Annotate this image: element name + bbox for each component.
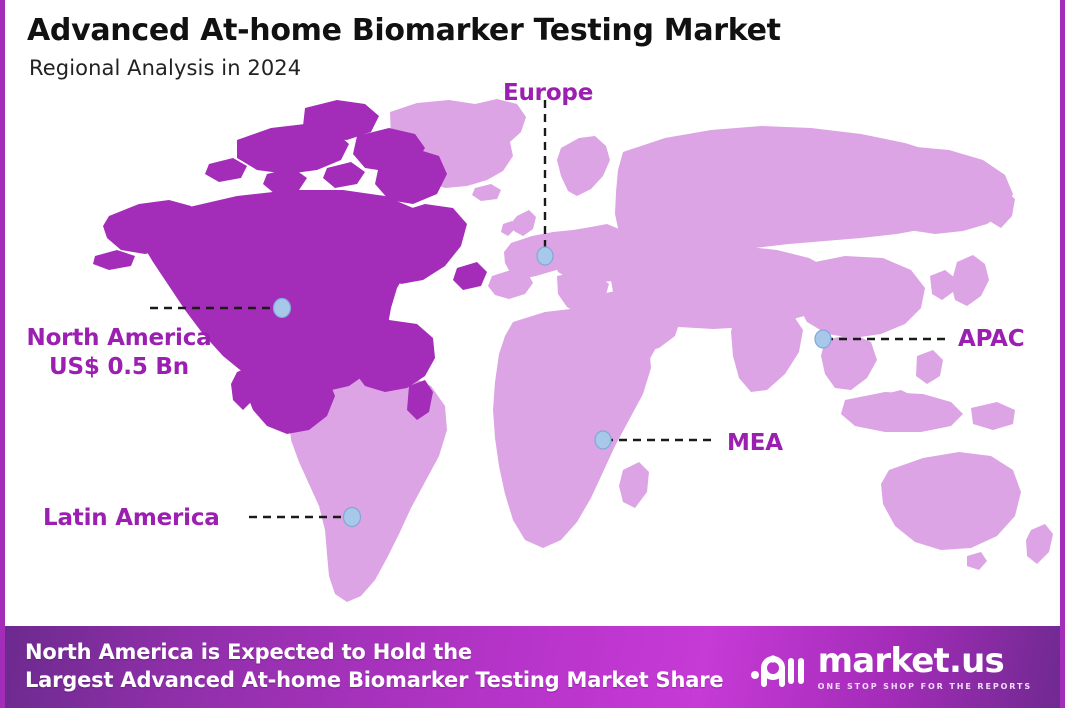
region-china bbox=[796, 256, 925, 338]
market-us-logo[interactable]: market.us ONE STOP SHOP FOR THE REPORTS bbox=[750, 644, 1042, 691]
label-europe: Europe bbox=[503, 80, 593, 107]
banner-line-1: North America is Expected to Hold the bbox=[25, 639, 723, 667]
header: Advanced At-home Biomarker Testing Marke… bbox=[5, 0, 1060, 80]
label-latin-america: Latin America bbox=[43, 505, 220, 532]
logo-tagline: ONE STOP SHOP FOR THE REPORTS bbox=[818, 682, 1032, 691]
region-iceland bbox=[472, 184, 501, 201]
page-subtitle: Regional Analysis in 2024 bbox=[29, 56, 1060, 80]
banner-text: North America is Expected to Hold the La… bbox=[25, 639, 723, 694]
label-mea: MEA bbox=[727, 430, 783, 457]
region-kamchatka bbox=[987, 190, 1015, 228]
label-apac: APAC bbox=[958, 326, 1024, 353]
region-baffin bbox=[375, 148, 447, 204]
label-north-america-name: North America bbox=[19, 325, 219, 352]
banner-line-2: Largest Advanced At-home Biomarker Testi… bbox=[25, 667, 723, 695]
marker-mea bbox=[595, 431, 611, 449]
region-arctic-small-1 bbox=[205, 158, 247, 182]
region-new-zealand bbox=[1026, 524, 1053, 564]
label-north-america-value: US$ 0.5 Bn bbox=[19, 354, 219, 381]
logo-word: market.us bbox=[818, 644, 1004, 678]
region-newfoundland bbox=[453, 262, 487, 290]
market-us-logo-mark bbox=[750, 644, 808, 690]
region-australia bbox=[881, 452, 1021, 550]
infographic-root: Advanced At-home Biomarker Testing Marke… bbox=[0, 0, 1065, 708]
region-tasmania bbox=[967, 552, 987, 570]
marker-north-america bbox=[274, 299, 291, 318]
region-europe bbox=[557, 136, 610, 196]
region-india bbox=[731, 306, 803, 392]
region-madagascar bbox=[619, 462, 649, 508]
region-japan bbox=[951, 255, 989, 306]
region-africa bbox=[493, 308, 651, 548]
marker-apac bbox=[815, 330, 831, 348]
region-aleutians bbox=[93, 250, 135, 270]
page-title: Advanced At-home Biomarker Testing Marke… bbox=[27, 14, 1060, 48]
marker-latin-america bbox=[344, 508, 361, 527]
region-east-canada bbox=[381, 204, 467, 284]
region-britain bbox=[512, 210, 536, 236]
footer-banner: North America is Expected to Hold the La… bbox=[5, 626, 1060, 708]
region-philippines bbox=[916, 350, 943, 384]
marker-europe bbox=[537, 247, 553, 265]
label-north-america: North America US$ 0.5 Bn bbox=[19, 325, 219, 381]
region-iberia bbox=[488, 270, 533, 299]
region-arctic-small-3 bbox=[323, 162, 365, 188]
region-png bbox=[971, 402, 1015, 430]
logo-wordmark: market.us ONE STOP SHOP FOR THE REPORTS bbox=[818, 644, 1032, 691]
